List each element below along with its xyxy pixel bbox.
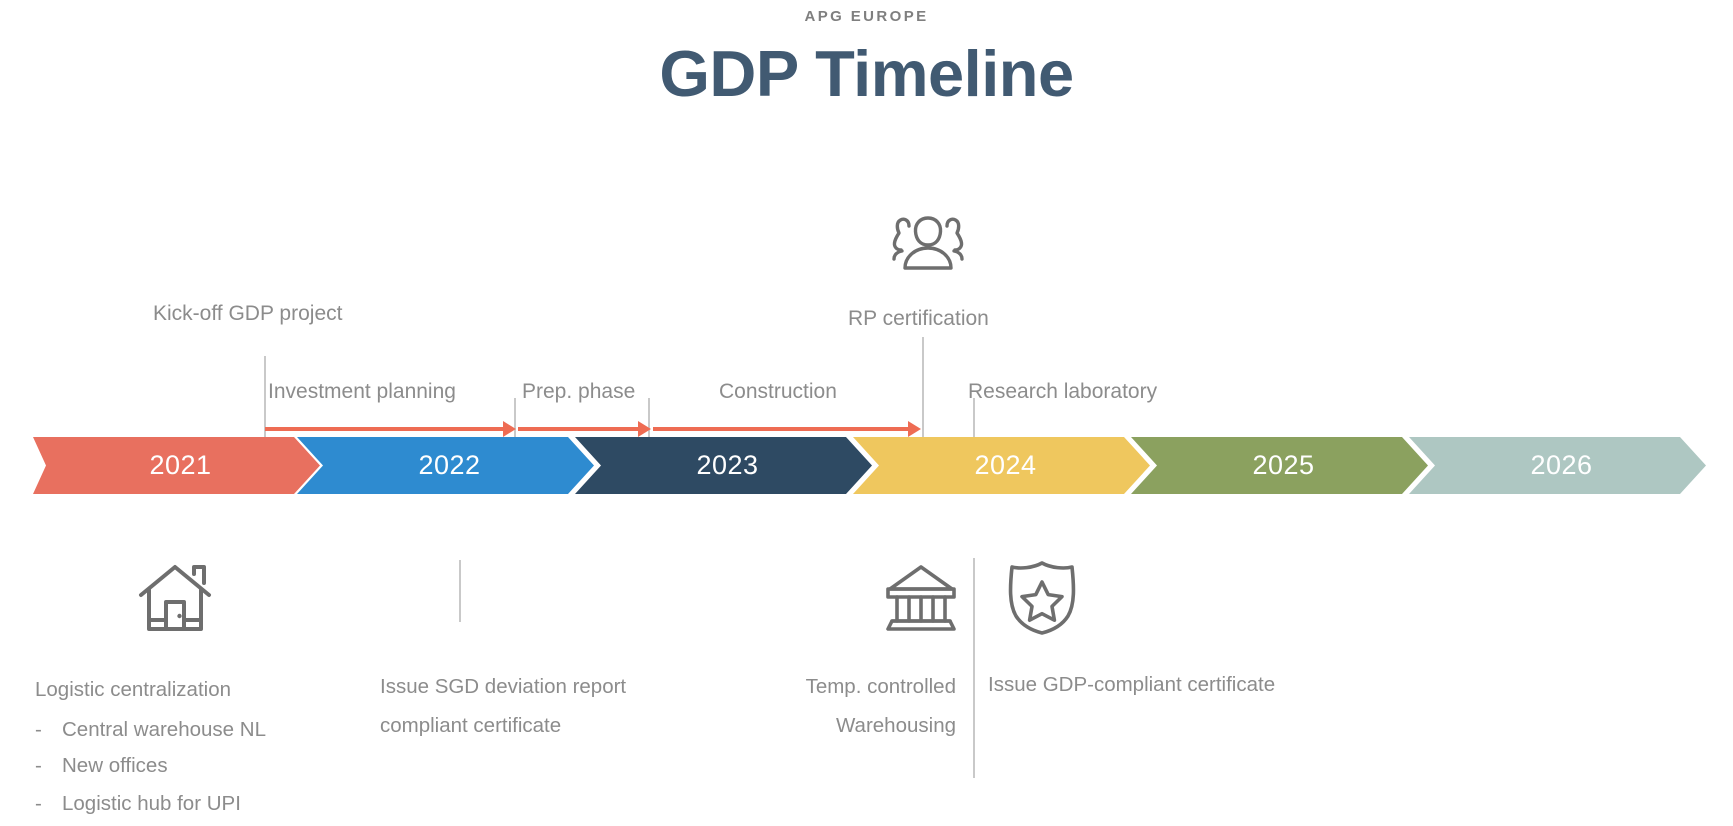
bank-building-icon (884, 562, 958, 634)
rule-kickoff (264, 356, 266, 438)
year-chevron-2026[interactable]: 2026 (1409, 437, 1706, 494)
note-logistic-bullet-marker-3: - (35, 784, 42, 824)
note-logistic-heading: Logistic centralization (35, 670, 231, 710)
rule-rp-certification (922, 337, 924, 438)
phase-arrow-construction-line (653, 427, 911, 431)
year-label-2024: 2024 (974, 450, 1036, 481)
year-chevron-2023[interactable]: 2023 (575, 437, 872, 494)
rule-sgd-note (459, 560, 461, 622)
note-sgd-line-1: Issue SGD deviation report (380, 667, 626, 707)
year-chevron-bar: 2021 2022 2023 2024 2025 2026 (33, 437, 1706, 494)
brand-eyebrow: APG EUROPE (0, 8, 1733, 25)
year-label-2023: 2023 (696, 450, 758, 481)
page-title: GDP Timeline (0, 36, 1733, 111)
timeline-infographic: APG EUROPE GDP Timeline RP certification… (0, 0, 1733, 826)
phase-arrow-investment-planning-line (265, 427, 505, 431)
note-sgd-line-2: compliant certificate (380, 706, 561, 746)
year-chevron-2024[interactable]: 2024 (853, 437, 1150, 494)
note-logistic-item-1: Central warehouse NL (62, 710, 266, 750)
year-label-2025: 2025 (1252, 450, 1314, 481)
year-chevron-2025[interactable]: 2025 (1131, 437, 1428, 494)
year-chevron-2021[interactable]: 2021 (33, 437, 320, 494)
phase-label-prep-phase: Prep. phase (522, 380, 635, 404)
note-warehousing-line-1: Temp. controlled (781, 667, 956, 707)
shield-star-icon (1003, 558, 1081, 636)
rule-research-laboratory (973, 398, 975, 438)
house-icon (138, 562, 212, 634)
phase-arrow-construction-head (908, 421, 921, 437)
year-chevron-2022[interactable]: 2022 (297, 437, 594, 494)
note-logistic-item-2: New offices (62, 746, 168, 786)
milestone-label-rp-certification: RP certification (848, 307, 989, 331)
year-label-2026: 2026 (1530, 450, 1592, 481)
note-warehousing-line-2: Warehousing (781, 706, 956, 746)
year-label-2022: 2022 (418, 450, 480, 481)
milestone-label-kickoff: Kick-off GDP project (153, 302, 342, 326)
rule-gdp-certificate-note (973, 558, 975, 778)
group-people-icon (888, 214, 968, 276)
phase-arrow-prep-phase-line (518, 427, 641, 431)
note-logistic-bullet-marker-2: - (35, 746, 42, 786)
phase-arrow-investment-planning-head (503, 421, 516, 437)
note-gdp-certificate-line-1: Issue GDP-compliant certificate (988, 665, 1275, 705)
note-logistic-bullet-marker-1: - (35, 710, 42, 750)
phase-arrow-prep-phase-head (638, 421, 651, 437)
milestone-label-research-laboratory: Research laboratory (968, 380, 1157, 404)
phase-label-construction: Construction (719, 380, 837, 404)
note-logistic-item-3: Logistic hub for UPI (62, 784, 241, 824)
phase-label-investment-planning: Investment planning (268, 380, 456, 404)
year-label-2021: 2021 (149, 450, 211, 481)
